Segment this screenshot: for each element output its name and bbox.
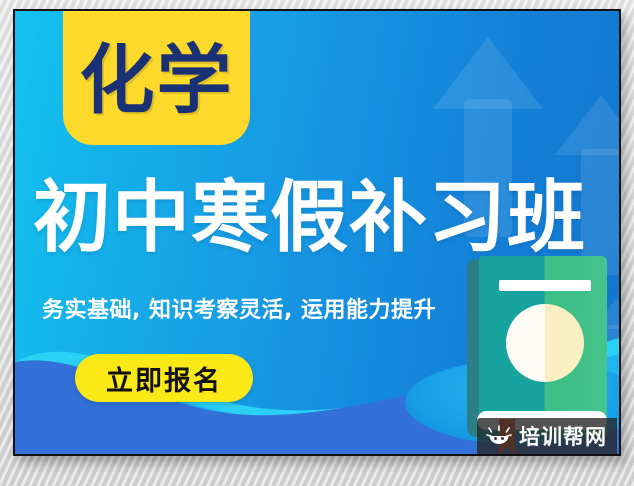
headline: 初中寒假补习班 [33,179,613,259]
sun-face-icon [486,425,512,447]
subject-badge-label: 化学 [79,33,233,118]
watermark: 培训帮网 [477,418,617,454]
promo-banner: 化学 初中寒假补习班 务实基础, 知识考察灵活, 运用能力提升 立即报名 [13,9,621,456]
watermark-label: 培训帮网 [519,421,607,451]
subject-badge: 化学 [63,9,250,145]
enroll-now-button[interactable]: 立即报名 [75,354,253,402]
subtitle: 务实基础, 知识考察灵活, 运用能力提升 [42,292,436,324]
enroll-now-button-label: 立即报名 [106,359,222,398]
book-title-bar [499,280,591,291]
arrow-head [555,95,621,155]
book-cover [479,256,607,437]
book-circle-emblem [506,304,584,382]
page-backdrop: 化学 初中寒假补习班 务实基础, 知识考察灵活, 运用能力提升 立即报名 [0,0,634,486]
